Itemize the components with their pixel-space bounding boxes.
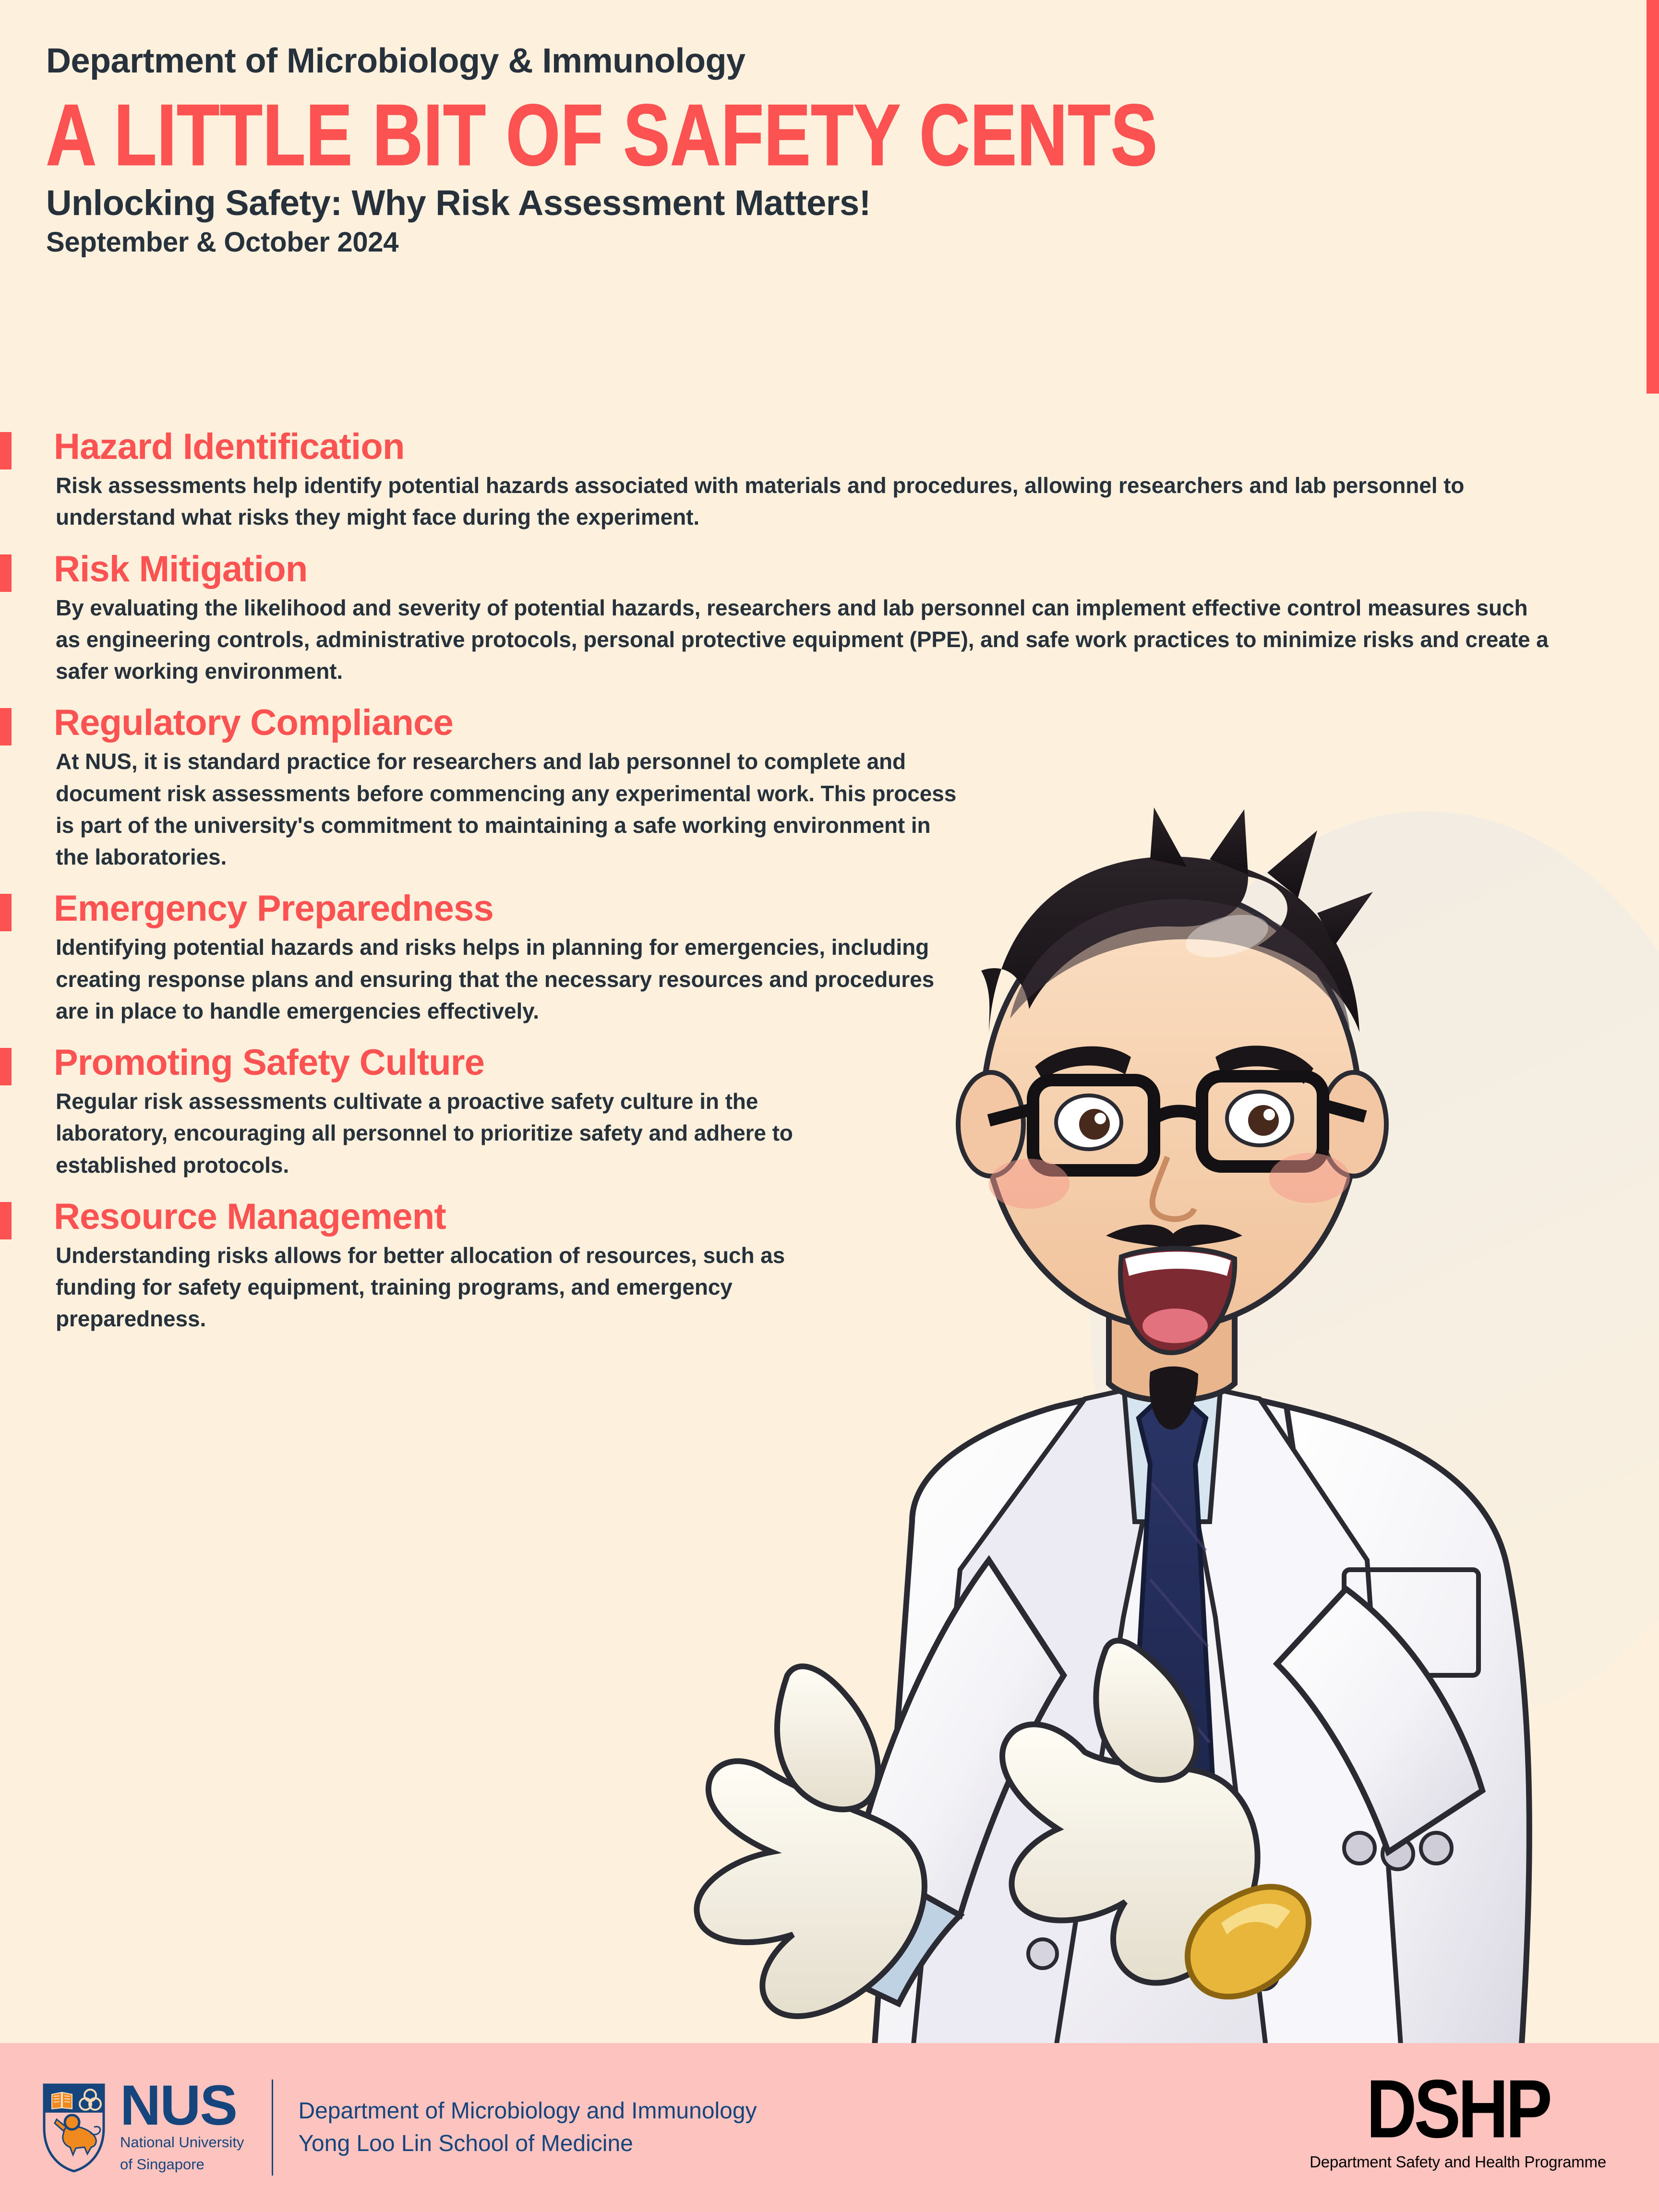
section-heading: Hazard Identification <box>54 427 1659 467</box>
nus-wordmark: NUS National University of Singapore <box>120 2082 244 2174</box>
section-regulatory-compliance: Regulatory Compliance At NUS, it is stan… <box>0 703 1659 873</box>
section-heading: Resource Management <box>54 1197 1659 1237</box>
poster-root: Department of Microbiology & Immunology … <box>0 0 1659 2212</box>
nus-crest-icon <box>40 2082 108 2173</box>
section-heading: Risk Mitigation <box>54 550 1659 589</box>
section-accent-bar <box>0 554 12 592</box>
footer-divider <box>272 2080 273 2176</box>
right-edge-accent-bar <box>1647 0 1659 394</box>
section-body: Regular risk assessments cultivate a pro… <box>56 1085 805 1181</box>
dshp-letters: DSHP <box>1310 2073 1606 2146</box>
nus-sub-line2: of Singapore <box>120 2155 244 2174</box>
poster-header: Department of Microbiology & Immunology … <box>46 43 1438 257</box>
dshp-logo: DSHP Department Safety and Health Progra… <box>1310 2084 1606 2171</box>
section-resource-management: Resource Management Understanding risks … <box>0 1197 1659 1335</box>
section-promoting-safety-culture: Promoting Safety Culture Regular risk as… <box>0 1043 1659 1181</box>
section-accent-bar <box>0 1202 12 1239</box>
section-accent-bar <box>0 432 12 469</box>
section-body: By evaluating the likelihood and severit… <box>56 592 1553 687</box>
footer-department-text: Department of Microbiology and Immunolog… <box>298 2095 757 2160</box>
footer-dept-line2: Yong Loo Lin School of Medicine <box>298 2128 757 2160</box>
section-heading: Regulatory Compliance <box>54 703 1659 743</box>
nus-sub-line1: National University <box>120 2133 244 2152</box>
section-heading: Emergency Preparedness <box>54 889 1659 928</box>
section-accent-bar <box>0 708 12 745</box>
nus-letters: NUS <box>120 2082 244 2129</box>
footer-dept-line1: Department of Microbiology and Immunolog… <box>298 2095 757 2128</box>
section-body: Understanding risks allows for better al… <box>56 1239 805 1335</box>
section-risk-mitigation: Risk Mitigation By evaluating the likeli… <box>0 550 1659 687</box>
section-body: At NUS, it is standard practice for rese… <box>56 745 968 873</box>
section-accent-bar <box>0 1048 12 1085</box>
issue-date: September & October 2024 <box>46 228 1438 257</box>
section-body: Identifying potential hazards and risks … <box>56 931 968 1027</box>
page-subtitle: Unlocking Safety: Why Risk Assessment Ma… <box>46 184 1438 222</box>
dshp-sub-label: Department Safety and Health Programme <box>1310 2153 1606 2171</box>
section-heading: Promoting Safety Culture <box>54 1043 1659 1082</box>
sections-list: Hazard Identification Risk assessments h… <box>0 427 1659 1351</box>
department-line: Department of Microbiology & Immunology <box>46 43 1438 80</box>
section-emergency-preparedness: Emergency Preparedness Identifying poten… <box>0 889 1659 1027</box>
section-body: Risk assessments help identify potential… <box>56 469 1553 533</box>
section-accent-bar <box>0 894 12 931</box>
page-title: A LITTLE BIT OF SAFETY CENTS <box>46 92 1410 179</box>
section-hazard-identification: Hazard Identification Risk assessments h… <box>0 427 1659 533</box>
poster-footer: NUS National University of Singapore Dep… <box>0 2043 1659 2212</box>
nus-logo: NUS National University of Singapore <box>40 2082 244 2174</box>
